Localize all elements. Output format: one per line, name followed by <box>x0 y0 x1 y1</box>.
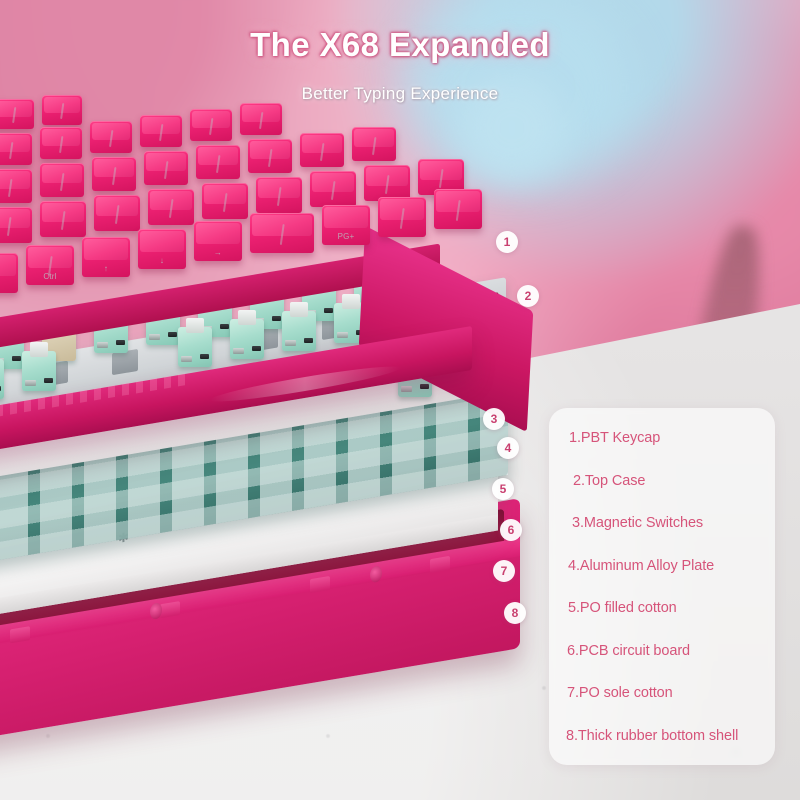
legend-item-1: 1.PBT Keycap <box>569 430 775 446</box>
legend-item-5: 5.PO filled cotton <box>568 600 775 616</box>
keycap <box>0 207 32 243</box>
keycap <box>352 127 396 161</box>
callout-badge-6[interactable]: 6 <box>500 519 522 541</box>
page-subtitle: Better Typing Experience <box>0 84 800 104</box>
keycap <box>378 197 426 237</box>
keycap-fn: Fn <box>0 253 18 293</box>
keycap <box>364 165 410 201</box>
keycap <box>0 169 32 203</box>
callout-badge-7[interactable]: 7 <box>493 560 515 582</box>
legend-item-2: 2.Top Case <box>573 473 775 489</box>
keycap <box>0 133 32 165</box>
keycap <box>310 171 356 207</box>
keycap <box>300 133 344 167</box>
keycap <box>434 189 482 229</box>
legend-item-3: 3.Magnetic Switches <box>572 515 775 531</box>
layer-pbt-keycaps: Fn Ctrl ↑ ↓ → PG+ <box>0 95 570 345</box>
keycap <box>240 103 282 135</box>
keycap-legend-arrow-right: → <box>194 248 242 257</box>
page-title: The X68 Expanded <box>0 26 800 64</box>
callout-badge-8[interactable]: 8 <box>504 602 526 624</box>
keycap-arrow-up: ↑ <box>82 237 130 277</box>
callout-badge-3[interactable]: 3 <box>483 408 505 430</box>
keycap <box>250 213 314 253</box>
keycap <box>40 201 86 237</box>
keycap-arrow-right: → <box>194 221 242 261</box>
keycap-legend-arrow-down: ↓ <box>138 256 186 265</box>
legend-item-4: 4.Aluminum Alloy Plate <box>568 558 775 574</box>
keycap <box>196 145 240 179</box>
keycap <box>90 121 132 153</box>
callout-badge-5[interactable]: 5 <box>492 478 514 500</box>
keycap-pgplus: PG+ <box>322 205 370 245</box>
keycap <box>248 139 292 173</box>
keycap <box>148 189 194 225</box>
keycap <box>190 109 232 141</box>
keycap-legend-pgplus: PG+ <box>322 232 370 241</box>
keycap-arrow-down: ↓ <box>138 229 186 269</box>
product-image-stage: ✱ <box>0 0 800 800</box>
keycap <box>40 127 82 159</box>
keycap <box>40 163 84 197</box>
keycap <box>144 151 188 185</box>
keycap <box>256 177 302 213</box>
legend-item-8: 8.Thick rubber bottom shell <box>566 728 775 744</box>
callout-badge-4[interactable]: 4 <box>497 437 519 459</box>
callout-badge-1[interactable]: 1 <box>496 231 518 253</box>
legend-panel: 1.PBT Keycap 2.Top Case 3.Magnetic Switc… <box>549 408 775 765</box>
keycap <box>202 183 248 219</box>
keycap <box>92 157 136 191</box>
keycap <box>94 195 140 231</box>
callout-badge-2[interactable]: 2 <box>517 285 539 307</box>
keycap-legend-fn: Fn <box>0 280 18 289</box>
keycap-ctrl: Ctrl <box>26 245 74 285</box>
legend-item-7: 7.PO sole cotton <box>567 685 775 701</box>
keycap-legend-ctrl: Ctrl <box>26 272 74 281</box>
keycap <box>140 115 182 147</box>
legend-item-6: 6.PCB circuit board <box>567 643 775 659</box>
keycap-legend-arrow-up: ↑ <box>82 264 130 273</box>
